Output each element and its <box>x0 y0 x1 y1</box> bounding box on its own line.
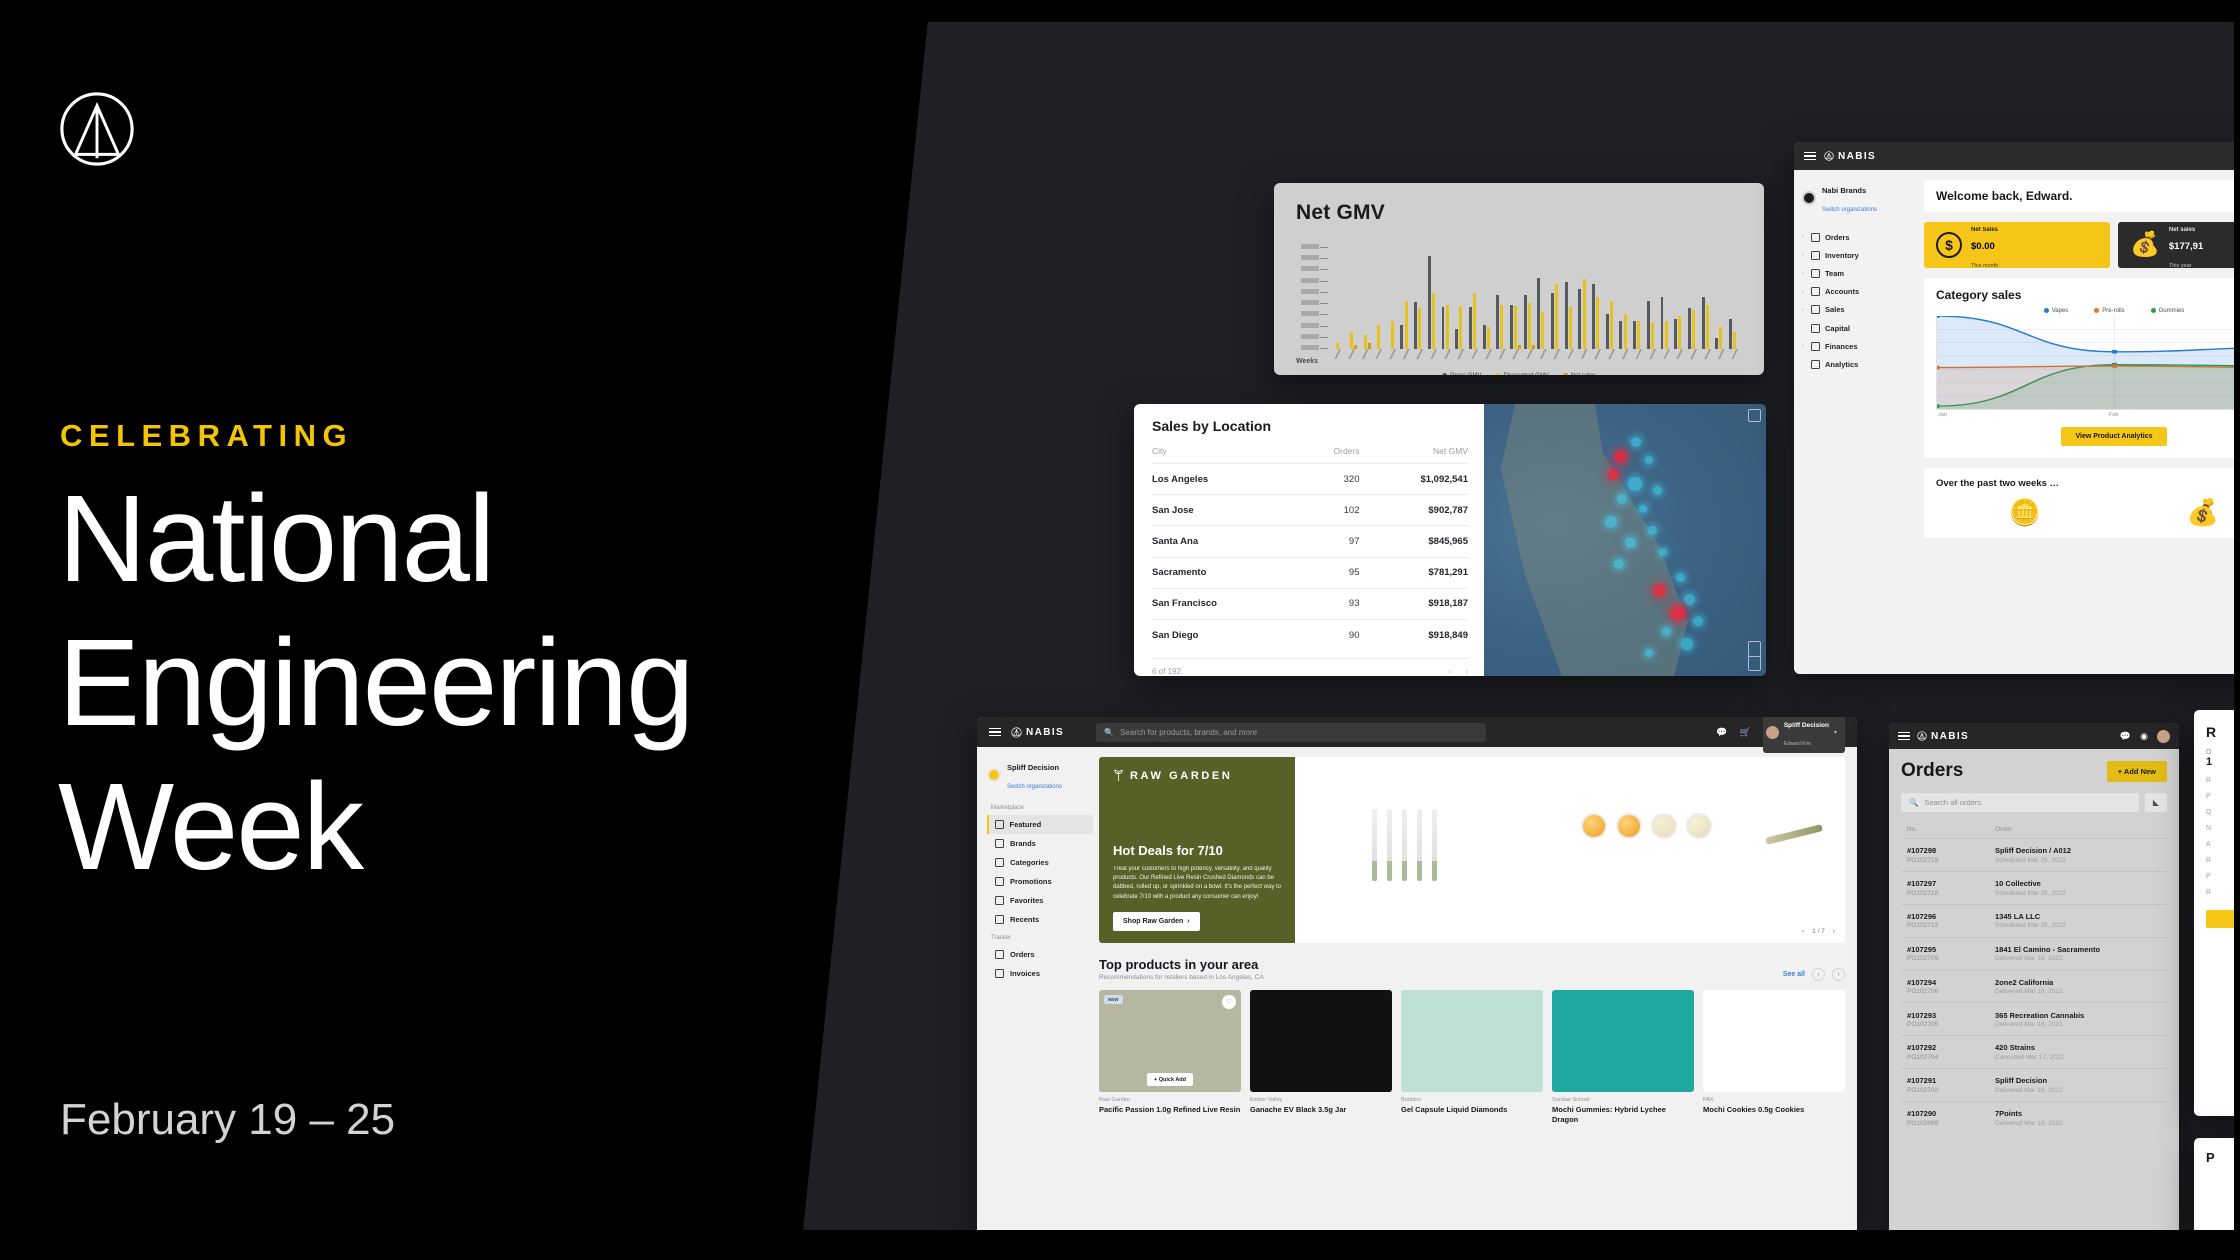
shop-raw-garden-button[interactable]: Shop Raw Garden › <box>1113 912 1200 931</box>
sidebar-item-brands[interactable]: Brands <box>987 834 1099 853</box>
bar-gross-gmv <box>1496 295 1499 349</box>
headline-line-1: National <box>58 468 693 612</box>
sidebar-item-label: Brands <box>1010 839 1036 848</box>
sidebar-item-inventory[interactable]: ›Inventory <box>1802 246 1908 264</box>
bar-group <box>1688 247 1699 349</box>
order-customer: 2one2 California <box>1995 978 2063 987</box>
nabis-mark-icon <box>1824 151 1834 161</box>
bar-group <box>1414 247 1425 349</box>
nabis-logo[interactable]: NABIS <box>1917 731 1969 742</box>
product-name: Mochi Gummies: Hybrid Lychee Dragon <box>1552 1105 1694 1125</box>
product-card[interactable]: Sundae SchoolMochi Gummies: Hybrid Lyche… <box>1552 990 1694 1125</box>
bar-gross-gmv <box>1674 319 1677 349</box>
add-new-order-button[interactable]: + Add New <box>2107 761 2167 782</box>
orders-table: No. Order #107298PO102719Spliff Decision… <box>1901 821 2167 1134</box>
chevron-left-icon[interactable]: ‹ <box>1802 928 1804 935</box>
bar-group <box>1469 247 1480 349</box>
product-image <box>1703 990 1845 1092</box>
cell-orders: 95 <box>1300 557 1359 588</box>
x-tick <box>1702 349 1713 359</box>
top-products-controls[interactable]: See all ‹ › <box>1783 968 1845 981</box>
tag-icon <box>995 877 1004 886</box>
sidebar-item-capital[interactable]: Capital <box>1802 319 1908 337</box>
bar-discounted-gmv <box>1719 327 1722 349</box>
table-row[interactable]: #107296PO1027131345 LA LLCScheduled Mar … <box>1901 904 2167 937</box>
see-all-link[interactable]: See all <box>1783 971 1805 978</box>
sales-map[interactable] <box>1484 404 1766 676</box>
product-image <box>1401 990 1543 1092</box>
top-products-title: Top products in your area <box>1099 957 1264 972</box>
table-row[interactable]: #107295PO1027091841 El Camino - Sacramen… <box>1901 937 2167 970</box>
sidebar-item-recents[interactable]: Recents <box>987 910 1099 929</box>
bar-gross-gmv <box>1442 307 1445 349</box>
deal-carousel-controls[interactable]: ‹ 1 / 7 › <box>1802 928 1835 935</box>
sidebar-list: OrdersInvoices <box>987 945 1099 983</box>
product-brand: PAX <box>1703 1097 1845 1103</box>
account-name: Spliff Decision <box>1784 722 1829 729</box>
search-icon: 🔍 <box>1104 728 1114 737</box>
chevron-right-icon[interactable]: › <box>1802 234 1806 240</box>
sidebar-item-label: Capital <box>1825 324 1850 333</box>
chevron-right-icon[interactable]: › <box>1465 667 1468 676</box>
cell-net-gmv: $845,965 <box>1359 526 1468 557</box>
order-number: #107295 <box>1907 945 1995 954</box>
filter-icon[interactable]: ◣ <box>2145 793 2167 812</box>
sidebar-item-label: Team <box>1825 269 1844 278</box>
dashboard-sidebar: Nabi Brands Switch organizations ›Orders… <box>1794 170 1916 674</box>
past-two-weeks-title: Over the past two weeks … <box>1936 478 2240 489</box>
box-icon <box>1811 251 1820 260</box>
map-data-point <box>1693 616 1703 626</box>
bar-group <box>1606 247 1617 349</box>
vape-pens-image <box>1372 809 1437 881</box>
cell-net-gmv: $902,787 <box>1359 495 1468 526</box>
chevron-left-icon[interactable]: ‹ <box>1812 968 1825 981</box>
org-name: Spliff Decision <box>1007 763 1059 772</box>
eyebrow-label: CELEBRATING <box>60 418 353 454</box>
hot-deal-heading: Hot Deals for 7/10 <box>1113 843 1281 858</box>
sidebar-item-analytics[interactable]: Analytics <box>1802 355 1908 373</box>
bar-group <box>1551 247 1562 349</box>
chevron-right-icon[interactable]: › <box>1802 307 1806 313</box>
x-tick <box>1332 349 1343 359</box>
nabis-wordmark: NABIS <box>1026 727 1064 738</box>
sidebar-item-label: Accounts <box>1825 287 1859 296</box>
cart-icon[interactable]: 🛒 <box>1740 727 1751 738</box>
sidebar-item-finances[interactable]: ›Finances <box>1802 337 1908 355</box>
kpi-net-sales-month: $ Net Sales $0.00 This month <box>1924 222 2110 268</box>
bar-discounted-gmv <box>1678 316 1681 349</box>
x-tick: Feb <box>2109 412 2118 418</box>
table-row[interactable]: #107291PO102702Spliff DecisionDelivered … <box>1901 1068 2167 1101</box>
bar-gross-gmv <box>1606 314 1609 349</box>
nabis-mark-icon <box>1917 731 1927 741</box>
bar-group <box>1510 247 1521 349</box>
table-row[interactable]: San Jose102$902,787 <box>1152 495 1468 526</box>
top-products-header: Top products in your area Recommendation… <box>1099 957 1845 981</box>
x-tick <box>1578 349 1589 359</box>
orders-search-input[interactable]: 🔍 Search all orders <box>1901 793 2139 812</box>
bar-group <box>1702 247 1713 349</box>
bar-group <box>1387 247 1398 349</box>
search-input[interactable]: 🔍 Search for products, brands, and more <box>1096 723 1486 742</box>
order-customer: Spliff Decision <box>1995 1076 2063 1085</box>
marketplace-body: Spliff Decision Switch organizations Mar… <box>977 747 1857 1232</box>
legend-item: Net sales <box>1563 373 1596 375</box>
order-status: Delivered Mar 18, 2022 <box>1995 988 2063 995</box>
sales-row-count: 6 of 192 <box>1152 667 1181 676</box>
chevron-right-icon[interactable]: › <box>1802 289 1806 295</box>
org-avatar <box>987 768 1001 782</box>
bar-discounted-gmv <box>1500 305 1503 350</box>
bar-discounted-gmv <box>1637 321 1640 349</box>
orders-title: Orders <box>1901 760 1963 782</box>
product-card-list: NEW♡+ Quick AddRaw GardenPacific Passion… <box>1099 990 1845 1125</box>
marketplace-window: NABIS 🔍 Search for products, brands, and… <box>977 717 1857 1232</box>
y-tick <box>1320 258 1328 259</box>
sales-by-location-card: Sales by Location City Orders Net GMV Lo… <box>1134 404 1766 676</box>
col-city: City <box>1152 446 1300 464</box>
bar-discounted-gmv <box>1665 321 1668 349</box>
past-two-weeks-card: Over the past two weeks … 🪙 💰 <box>1924 468 2240 538</box>
dollar-icon <box>1811 324 1820 333</box>
bar-discounted-gmv <box>1733 332 1736 349</box>
kpi-value: $177,91 <box>2169 241 2203 252</box>
order-po: PO102699 <box>1907 1120 1995 1127</box>
bar-discounted-gmv <box>1596 297 1599 349</box>
org-switcher[interactable]: Nabi Brands Switch organizations <box>1802 180 1908 216</box>
category-sales-legend: VapesPre-rollsGummies <box>1936 308 2240 314</box>
sales-table-footer: 6 of 192 ‹ › <box>1152 658 1468 676</box>
date-range: February 19 – 25 <box>60 1095 395 1145</box>
y-tick <box>1320 303 1328 304</box>
nabis-wordmark: NABIS <box>1931 731 1969 742</box>
sidebar-item-label: Invoices <box>1010 969 1040 978</box>
chat-icon[interactable]: 💬 <box>2120 731 2131 742</box>
map-data-point <box>1645 456 1653 464</box>
search-icon: 🔍 <box>1909 798 1918 807</box>
cell-orders: 93 <box>1300 588 1359 619</box>
shop-raw-garden-label: Shop Raw Garden <box>1123 918 1183 925</box>
table-row[interactable]: Los Angeles320$1,092,541 <box>1152 464 1468 495</box>
hot-deal-body: Treat your customers to high potency, ve… <box>1113 865 1281 902</box>
dashboard-main: Welcome back, Edward. $ Net Sales $0.00 … <box>1916 170 2240 674</box>
order-customer: 1841 El Camino - Sacramento <box>1995 945 2100 954</box>
org-name: Nabi Brands <box>1822 186 1866 195</box>
y-tick <box>1320 337 1328 338</box>
bar-gross-gmv <box>1702 297 1705 349</box>
wallet-icon <box>1811 342 1820 351</box>
bar-gross-gmv <box>1661 297 1664 349</box>
cell-orders: 320 <box>1300 464 1359 495</box>
sidebar-item-sales[interactable]: ›Sales <box>1802 301 1908 319</box>
sidebar-item-team[interactable]: ›Team <box>1802 264 1908 282</box>
sidebar-item-invoices[interactable]: Invoices <box>987 964 1099 983</box>
table-row[interactable]: Sacramento95$781,291 <box>1152 557 1468 588</box>
bar-discounted-gmv <box>1541 312 1544 349</box>
sidebar-item-promotions[interactable]: Promotions <box>987 872 1099 891</box>
hamburger-icon[interactable] <box>989 728 1001 737</box>
invoice-icon <box>995 969 1004 978</box>
map-data-point <box>1617 494 1627 504</box>
net-gmv-x-axis <box>1332 349 1740 363</box>
sidebar-item-label: Analytics <box>1825 360 1858 369</box>
heart-icon <box>995 896 1004 905</box>
chevron-left-icon[interactable]: ‹ <box>1448 667 1451 676</box>
bar-group <box>1400 247 1411 349</box>
bar-discounted-gmv <box>1405 301 1408 349</box>
order-status: Delivered Mar 18, 2022 <box>1995 1120 2063 1127</box>
table-row[interactable]: San Diego90$918,849 <box>1152 619 1468 650</box>
table-row[interactable]: #107293PO102705365 Recreation CannabisDe… <box>1901 1002 2167 1035</box>
bar-group <box>1346 247 1357 349</box>
table-row[interactable]: Santa Ana97$845,965 <box>1152 526 1468 557</box>
map-data-point <box>1639 505 1647 513</box>
order-number: #107293 <box>1907 1011 1995 1020</box>
headline-line-3: Week <box>58 756 693 900</box>
sidebar-item-favorites[interactable]: Favorites <box>987 891 1099 910</box>
x-tick <box>1661 349 1672 359</box>
org-switcher[interactable]: Spliff Decision Switch organizations <box>987 757 1099 793</box>
sidebar-item-accounts[interactable]: ›Accounts <box>1802 283 1908 301</box>
cell-city: Los Angeles <box>1152 464 1300 495</box>
y-tick <box>1320 281 1328 282</box>
hot-deal-copy: RAW GARDEN Hot Deals for 7/10 Treat your… <box>1099 757 1295 943</box>
bar-group <box>1332 247 1343 349</box>
marketplace-main: RAW GARDEN Hot Deals for 7/10 Treat your… <box>1099 747 1857 1232</box>
bar-gross-gmv <box>1633 321 1636 349</box>
x-tick <box>1469 349 1480 359</box>
cell-orders: 102 <box>1300 495 1359 526</box>
product-name: Gel Capsule Liquid Diamonds <box>1401 1105 1543 1115</box>
switch-org-link[interactable]: Switch organizations <box>1822 207 1877 213</box>
order-status: Scheduled Mar 25, 2022 <box>1995 857 2071 864</box>
bar-gross-gmv <box>1729 319 1732 349</box>
nabis-logo[interactable]: NABIS <box>1824 151 1876 162</box>
x-tick <box>1428 349 1439 359</box>
bar-group <box>1496 247 1507 349</box>
order-po: PO102713 <box>1907 922 1995 929</box>
cell-city: San Francisco <box>1152 588 1300 619</box>
bar-gross-gmv <box>1469 307 1472 349</box>
map-layers-icon[interactable] <box>1748 409 1761 422</box>
chevron-right-icon[interactable]: › <box>1833 928 1835 935</box>
bar-discounted-gmv <box>1473 293 1476 349</box>
kpi-net-sales-year: 💰 Net sales $177,91 This year <box>2118 222 2240 268</box>
bar-discounted-gmv <box>1350 332 1353 349</box>
chart-line-icon <box>1811 360 1820 369</box>
y-tick <box>1320 292 1328 293</box>
star-icon <box>995 820 1004 829</box>
net-gmv-chart: Gross GMVDiscounted GMVNet sales <box>1296 247 1742 365</box>
product-card[interactable]: Ember ValleyGanache EV Black 3.5g Jar <box>1250 990 1392 1125</box>
headline-line-2: Engineering <box>58 612 693 756</box>
product-card[interactable]: NEW♡+ Quick AddRaw GardenPacific Passion… <box>1099 990 1241 1125</box>
bar-group <box>1455 247 1466 349</box>
sidebar-item-label: Promotions <box>1010 877 1052 886</box>
legend-item: Gummies <box>2151 308 2185 314</box>
table-row[interactable]: San Francisco93$918,187 <box>1152 588 1468 619</box>
brand-dashboard-window: NABIS Nabi Brands Switch organizations ›… <box>1794 142 2240 674</box>
orders-body: Orders + Add New 🔍 Search all orders ◣ N… <box>1889 749 2179 1145</box>
bar-group <box>1578 247 1589 349</box>
history-icon <box>995 915 1004 924</box>
x-tick <box>1688 349 1699 359</box>
bar-gross-gmv <box>1592 284 1595 349</box>
bar-gross-gmv <box>1524 295 1527 349</box>
hot-deal-image: ‹ 1 / 7 › <box>1295 757 1845 943</box>
sidebar-item-featured[interactable]: Featured <box>987 815 1093 834</box>
product-brand: Sundae School <box>1552 1097 1694 1103</box>
switch-org-link[interactable]: Switch organizations <box>1007 784 1062 790</box>
concentrate-jars-image <box>1581 813 1712 839</box>
bar-group <box>1715 247 1726 349</box>
x-tick <box>1729 349 1740 359</box>
table-header-row: City Orders Net GMV <box>1152 446 1468 464</box>
sales-table-wrap: Sales by Location City Orders Net GMV Lo… <box>1134 404 1484 676</box>
sales-by-location-title: Sales by Location <box>1152 418 1468 434</box>
nabis-wordmark: NABIS <box>1838 151 1876 162</box>
order-customer: 365 Recreation Cannabis <box>1995 1011 2084 1020</box>
table-row[interactable]: #107297PO10271810 CollectiveScheduled Ma… <box>1901 871 2167 904</box>
x-tick <box>1606 349 1617 359</box>
chevron-right-icon[interactable]: › <box>1802 343 1806 349</box>
x-tick <box>1455 349 1466 359</box>
bar-group <box>1647 247 1658 349</box>
sidebar-item-orders[interactable]: ›Orders <box>1802 228 1908 246</box>
sidebar-item-orders[interactable]: Orders <box>987 945 1099 964</box>
chevron-right-icon[interactable]: › <box>1802 270 1806 276</box>
chevron-right-icon[interactable]: › <box>1832 968 1845 981</box>
col-orders: Orders <box>1300 446 1359 464</box>
order-customer: 10 Collective <box>1995 879 2066 888</box>
cell-orders: 90 <box>1300 619 1359 650</box>
table-row[interactable]: #107298PO102719Spliff Decision / A012Sch… <box>1901 838 2167 871</box>
order-customer: 420 Strains <box>1995 1043 2064 1052</box>
hamburger-icon[interactable] <box>1898 732 1910 741</box>
order-number: #107297 <box>1907 879 1995 888</box>
x-tick <box>1592 349 1603 359</box>
bar-discounted-gmv <box>1432 293 1435 349</box>
avatar <box>1766 726 1779 739</box>
help-circle-icon[interactable]: ◉ <box>2140 731 2148 742</box>
order-number: #107290 <box>1907 1109 1995 1118</box>
bar-group <box>1592 247 1603 349</box>
map-data-point <box>1631 437 1641 447</box>
bar-discounted-gmv <box>1418 308 1421 349</box>
heart-icon[interactable]: ♡ <box>1222 995 1236 1009</box>
org-avatar <box>1802 191 1816 205</box>
truck-icon <box>995 950 1004 959</box>
chevron-right-icon[interactable]: › <box>1802 252 1806 258</box>
slide-canvas: Net GMV Gross GMVDiscounted GMVNet sales… <box>0 0 2240 1260</box>
kpi-label: Net sales <box>2169 227 2195 233</box>
new-badge: NEW <box>1104 995 1123 1004</box>
past-two-weeks-icons: 🪙 💰 <box>1936 497 2240 528</box>
map-data-point <box>1676 573 1685 582</box>
bar-gross-gmv <box>1551 293 1554 349</box>
product-image <box>1552 990 1694 1092</box>
product-card[interactable]: BuddiesGel Capsule Liquid Diamonds <box>1401 990 1543 1125</box>
x-tick <box>1510 349 1521 359</box>
quick-add-button[interactable]: + Quick Add <box>1147 1073 1193 1086</box>
bar-group <box>1524 247 1535 349</box>
chevron-down-icon[interactable]: ▾ <box>1834 729 1837 736</box>
dashboard-body: Nabi Brands Switch organizations ›Orders… <box>1794 170 2240 674</box>
orders-search-row: 🔍 Search all orders ◣ <box>1901 793 2167 812</box>
hot-deal-banner[interactable]: RAW GARDEN Hot Deals for 7/10 Treat your… <box>1099 757 1845 943</box>
bar-gross-gmv <box>1619 321 1622 349</box>
nabis-logo[interactable]: NABIS <box>1011 727 1064 738</box>
table-row[interactable]: #107292PO102704420 StrainsCancelled Mar … <box>1901 1035 2167 1068</box>
gold-bars-icon: 🪙 <box>2009 497 2041 528</box>
category-sales-svg <box>1937 316 2240 409</box>
bar-group <box>1428 247 1439 349</box>
page-title: National Engineering Week <box>58 468 693 900</box>
bar-discounted-gmv <box>1706 305 1709 350</box>
legend-item: Discounted GMV <box>1495 373 1548 375</box>
x-tick <box>1619 349 1630 359</box>
map-zoom-control[interactable] <box>1748 641 1761 671</box>
x-tick <box>1483 349 1494 359</box>
map-data-point <box>1653 486 1662 495</box>
order-status: Scheduled Mar 25, 2022 <box>1995 922 2066 929</box>
y-tick <box>1320 247 1328 248</box>
x-tick <box>1400 349 1411 359</box>
map-data-point <box>1645 649 1653 657</box>
order-number: #107298 <box>1907 846 1995 855</box>
bar-gross-gmv <box>1455 329 1458 349</box>
sidebar-item-categories[interactable]: Categories <box>987 853 1099 872</box>
sales-pagination[interactable]: ‹ › <box>1436 667 1468 676</box>
bar-discounted-gmv <box>1583 279 1586 349</box>
raw-garden-wordmark: RAW GARDEN <box>1130 770 1232 782</box>
carousel-position: 1 / 7 <box>1812 928 1825 935</box>
dashboard-top-nav: NABIS <box>1794 142 2240 170</box>
bar-group <box>1633 247 1644 349</box>
sidebar-item-label: Orders <box>1825 233 1850 242</box>
raw-garden-sprout-icon <box>1113 769 1124 782</box>
avatar[interactable] <box>2157 730 2170 743</box>
bar-discounted-gmv <box>1446 305 1449 350</box>
category-sales-title: Category sales <box>1936 288 2240 302</box>
net-gmv-y-axis <box>1296 247 1330 349</box>
x-tick <box>1524 349 1535 359</box>
welcome-banner: Welcome back, Edward. <box>1924 180 2240 212</box>
bar-discounted-gmv <box>1364 335 1367 349</box>
hamburger-icon[interactable] <box>1804 152 1816 161</box>
y-tick <box>1320 326 1328 327</box>
order-po: PO102704 <box>1907 1054 1995 1061</box>
x-tick <box>1674 349 1685 359</box>
product-brand: Buddies <box>1401 1097 1543 1103</box>
money-bag-icon: 💰 <box>2187 497 2219 528</box>
bar-gross-gmv <box>1428 256 1431 349</box>
kpi-sub: This year <box>2169 263 2192 269</box>
map-data-point <box>1662 627 1671 636</box>
order-po: PO102705 <box>1907 1021 1995 1028</box>
cell-net-gmv: $781,291 <box>1359 557 1468 588</box>
chat-icon[interactable]: 💬 <box>1716 727 1727 738</box>
view-product-analytics-button[interactable]: View Product Analytics <box>2061 427 2166 446</box>
net-gmv-legend: Gross GMVDiscounted GMVNet sales <box>1442 373 1596 375</box>
top-products-subtitle: Recommendations for retailers based in L… <box>1099 974 1264 981</box>
table-row[interactable]: #107294PO1027062one2 CaliforniaDelivered… <box>1901 970 2167 1003</box>
product-card[interactable]: PAXMochi Cookies 0.5g Cookies <box>1703 990 1845 1125</box>
table-row[interactable]: #107290PO1026997PointsDelivered Mar 18, … <box>1901 1101 2167 1134</box>
money-bag-icon: 💰 <box>2130 233 2160 257</box>
product-brand: Ember Valley <box>1250 1097 1392 1103</box>
